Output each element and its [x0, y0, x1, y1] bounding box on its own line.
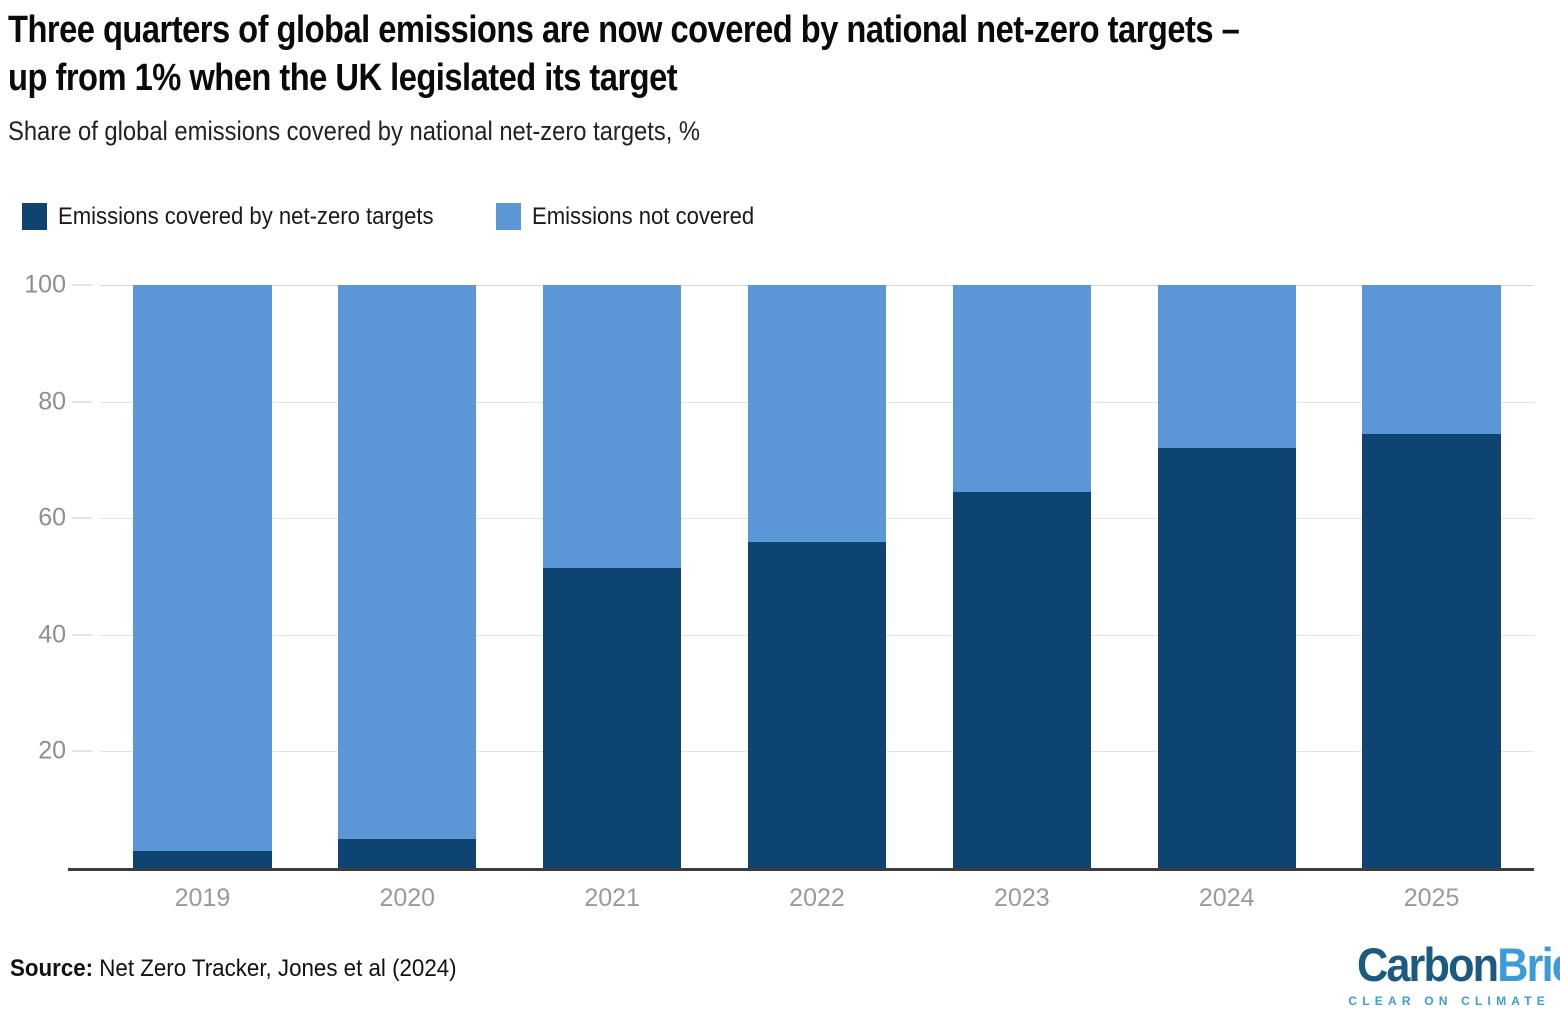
bar-segment-covered[interactable] — [338, 839, 476, 868]
x-tick-label: 2019 — [100, 884, 305, 913]
carbonbrief-logo[interactable]: CarbonBrief CLEAR ON CLIMATE — [1340, 940, 1552, 1008]
bar-segment-not-covered[interactable] — [953, 285, 1091, 492]
x-tick-label: 2025 — [1329, 884, 1534, 913]
bar-stack[interactable] — [748, 285, 886, 868]
x-tick-label: 2021 — [510, 884, 715, 913]
y-tick-label: 100 — [0, 271, 66, 300]
bar-segment-not-covered[interactable] — [133, 285, 271, 851]
bars-container — [100, 285, 1534, 868]
bar-stack[interactable] — [953, 285, 1091, 868]
logo-wordmark: CarbonBrief — [1357, 940, 1552, 990]
x-tick-label: 2020 — [305, 884, 510, 913]
chart-plot-region: 20406080100 2019202020212022202320242025 — [0, 0, 1560, 1018]
y-tick-mark — [72, 634, 92, 635]
bar-segment-not-covered[interactable] — [1158, 285, 1296, 448]
source-label: Source: — [10, 955, 93, 982]
logo-tagline: CLEAR ON CLIMATE — [1340, 994, 1550, 1008]
bar-segment-not-covered[interactable] — [1362, 285, 1500, 434]
bar-segment-covered[interactable] — [133, 851, 271, 868]
source-note: Source: Net Zero Tracker, Jones et al (2… — [10, 955, 457, 983]
bar-segment-covered[interactable] — [543, 568, 681, 868]
y-tick-mark — [72, 518, 92, 519]
bar-segment-not-covered[interactable] — [543, 285, 681, 568]
bar-segment-covered[interactable] — [1158, 448, 1296, 868]
bar-segment-not-covered[interactable] — [748, 285, 886, 542]
bar-segment-covered[interactable] — [748, 542, 886, 868]
bar-segment-covered[interactable] — [953, 492, 1091, 868]
y-tick-mark — [72, 751, 92, 752]
y-tick-mark — [72, 401, 92, 402]
bar-stack[interactable] — [133, 285, 271, 868]
logo-carbon-text: Carbon — [1357, 938, 1497, 991]
bar-stack[interactable] — [1158, 285, 1296, 868]
logo-brief-text: Brief — [1497, 938, 1560, 991]
x-tick-label: 2024 — [1124, 884, 1329, 913]
bar-stack[interactable] — [338, 285, 476, 868]
x-tick-label: 2023 — [919, 884, 1124, 913]
bar-stack[interactable] — [543, 285, 681, 868]
y-tick-label: 20 — [0, 737, 66, 766]
source-text: Net Zero Tracker, Jones et al (2024) — [93, 955, 456, 982]
bar-stack[interactable] — [1362, 285, 1500, 868]
y-tick-mark — [72, 285, 92, 286]
y-tick-label: 40 — [0, 620, 66, 649]
y-tick-label: 60 — [0, 504, 66, 533]
x-axis-line — [68, 868, 1534, 871]
y-tick-label: 80 — [0, 387, 66, 416]
bar-segment-covered[interactable] — [1362, 434, 1500, 868]
bar-segment-not-covered[interactable] — [338, 285, 476, 839]
x-tick-label: 2022 — [715, 884, 920, 913]
